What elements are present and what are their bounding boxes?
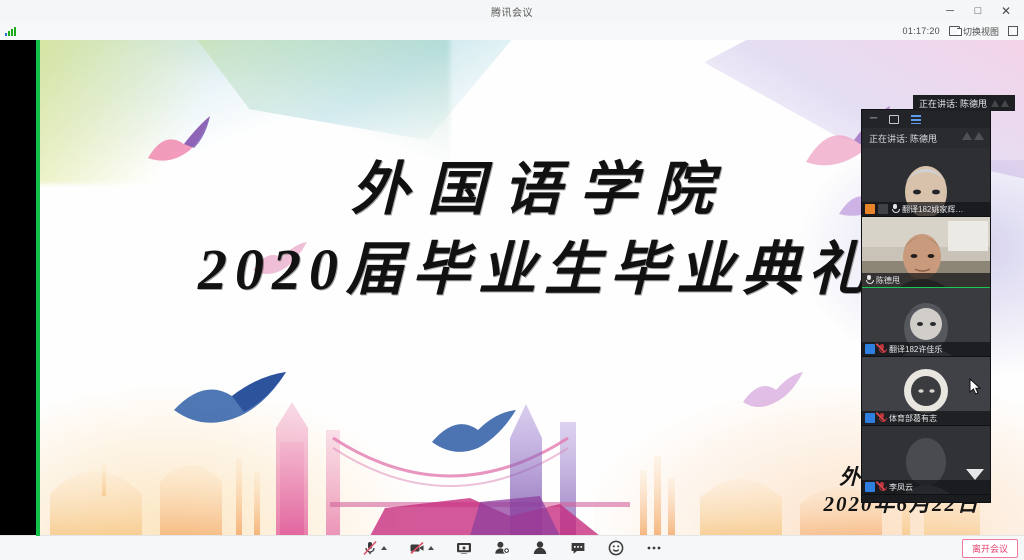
switch-view-icon bbox=[949, 26, 960, 36]
speaking-tooltip-text: 正在讲话: 陈德甩 bbox=[919, 97, 987, 110]
participant-name-bar: 翻译182许佳乐 bbox=[862, 342, 990, 356]
participant-name: 李凤云 bbox=[889, 482, 913, 493]
bird-illustration-5 bbox=[428, 408, 520, 464]
more-options-icon bbox=[646, 540, 662, 556]
microphone-muted-icon bbox=[878, 344, 886, 354]
microphone-muted-icon bbox=[362, 540, 378, 556]
share-screen-icon bbox=[456, 540, 472, 556]
invite-member-button[interactable] bbox=[494, 540, 510, 556]
microphone-muted-icon bbox=[878, 413, 886, 423]
co-host-badge-icon bbox=[865, 413, 875, 423]
screen-share-icon bbox=[878, 204, 888, 214]
meeting-info-right: 01:17:20 切换视图 bbox=[903, 22, 1018, 40]
shared-screen-stage: 外国语学院 2020届毕业生毕业典礼 外国语学院 2020年6月22日 正在讲话… bbox=[0, 40, 1024, 536]
participants-icon bbox=[532, 540, 548, 556]
switch-view-button[interactable]: 切换视图 bbox=[949, 25, 999, 38]
chat-icon bbox=[570, 540, 586, 556]
tencent-meeting-window: 腾讯会议 ─ □ ✕ 01:17:20 切换视图 bbox=[0, 0, 1024, 560]
speaking-tooltip: 正在讲话: 陈德甩 bbox=[913, 95, 1015, 111]
audio-wave-icon bbox=[991, 100, 1009, 107]
meeting-toolbar: 离开会议 bbox=[0, 535, 1024, 560]
signal-icon[interactable] bbox=[5, 26, 16, 36]
panel-title-bar: ─ bbox=[862, 110, 990, 128]
participant-name: 陈德甩 bbox=[876, 275, 900, 286]
screen-share-border bbox=[36, 40, 40, 536]
close-button[interactable]: ✕ bbox=[992, 0, 1020, 22]
window-title: 腾讯会议 bbox=[491, 4, 533, 19]
co-host-badge-icon bbox=[865, 344, 875, 354]
co-host-badge-icon bbox=[865, 482, 875, 492]
participant-video-panel: ─ 正在讲话: 陈德甩 bbox=[862, 110, 990, 502]
meeting-timer: 01:17:20 bbox=[903, 26, 940, 36]
participant-tile-active[interactable]: 陈德甩 bbox=[862, 217, 990, 288]
panel-speaking-banner: 正在讲话: 陈德甩 bbox=[862, 128, 990, 148]
microphone-icon bbox=[891, 204, 899, 214]
chevron-down-icon[interactable] bbox=[966, 469, 984, 480]
bird-illustration-7 bbox=[740, 370, 806, 414]
chat-button[interactable] bbox=[570, 540, 586, 556]
bird-illustration-4 bbox=[170, 370, 290, 438]
participant-tile[interactable]: 李凤云 bbox=[862, 426, 990, 495]
panel-layout-grid-icon[interactable] bbox=[911, 115, 921, 124]
participant-name: 翻译182许佳乐 bbox=[889, 344, 942, 355]
video-button[interactable] bbox=[409, 540, 434, 556]
more-options-button[interactable] bbox=[646, 540, 662, 556]
microphone-icon bbox=[865, 275, 873, 285]
maximize-button[interactable]: □ bbox=[964, 0, 992, 22]
participant-name: 翻译182姚家辉… bbox=[902, 204, 963, 215]
minimize-button[interactable]: ─ bbox=[936, 0, 964, 22]
mouse-cursor bbox=[969, 378, 982, 396]
participant-name-bar: 体育部葛有志 bbox=[862, 411, 990, 425]
participant-name: 体育部葛有志 bbox=[889, 413, 937, 424]
slide-decoration-top-left-2 bbox=[190, 40, 520, 140]
participants-button[interactable] bbox=[532, 540, 548, 556]
invite-member-icon bbox=[494, 540, 510, 556]
fullscreen-icon[interactable] bbox=[1008, 26, 1018, 36]
audio-wave-icon-panel bbox=[962, 132, 984, 140]
switch-view-label: 切换视图 bbox=[963, 25, 999, 38]
participant-tile[interactable]: 翻译182许佳乐 bbox=[862, 288, 990, 357]
slide-decoration-bottom-left bbox=[40, 386, 420, 536]
participant-tile[interactable]: 翻译182姚家辉… bbox=[862, 148, 990, 217]
meeting-info-bar: 01:17:20 切换视图 bbox=[0, 22, 1024, 41]
panel-speaking-label: 正在讲话: 陈德甩 bbox=[869, 132, 937, 145]
window-controls: ─ □ ✕ bbox=[936, 0, 1020, 22]
video-muted-icon bbox=[409, 540, 425, 556]
host-badge-icon bbox=[865, 204, 875, 214]
window-title-bar: 腾讯会议 ─ □ ✕ bbox=[0, 0, 1024, 23]
chevron-up-icon[interactable] bbox=[428, 546, 434, 550]
reaction-button[interactable] bbox=[608, 540, 624, 556]
participant-name-bar: 李凤云 bbox=[862, 480, 990, 494]
toolbar-buttons bbox=[0, 536, 1024, 560]
microphone-button[interactable] bbox=[362, 540, 387, 556]
microphone-muted-icon bbox=[878, 482, 886, 492]
chevron-up-icon[interactable] bbox=[381, 546, 387, 550]
leave-meeting-button[interactable]: 离开会议 bbox=[962, 539, 1018, 558]
participant-name-bar: 陈德甩 bbox=[862, 273, 990, 287]
participant-name-bar: 翻译182姚家辉… bbox=[862, 202, 990, 216]
panel-restore-icon[interactable] bbox=[889, 115, 899, 124]
share-screen-button[interactable] bbox=[456, 540, 472, 556]
reaction-emoji-icon bbox=[608, 540, 624, 556]
panel-minimize-button[interactable]: ─ bbox=[870, 114, 877, 124]
